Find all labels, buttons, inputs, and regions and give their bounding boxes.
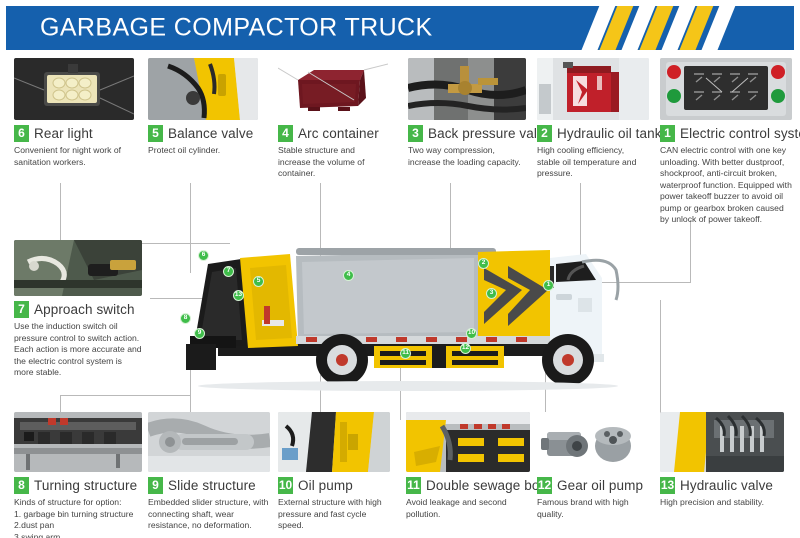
connector-line-1 [690,220,691,282]
badge-number: 13 [660,477,675,494]
connector-line-8b [60,395,190,396]
card-title: Arc container [298,126,379,141]
badge-number: 8 [14,477,29,494]
truck-marker-8[interactable]: 8 [180,313,191,324]
rear-light-photo [14,58,134,120]
card-desc: Stable structure and increase the volume… [278,145,388,180]
card-head: 5 Balance valve [148,125,258,142]
header-banner: GARBAGE COMPACTOR TRUCK [6,6,794,50]
card-head: 9 Slide structure [148,477,270,494]
card-title: Double sewage box [426,478,546,493]
card-title: Hydraulic oil tank [557,126,662,141]
card-title: Slide structure [168,478,256,493]
card-head: 8 Turning structure [14,477,142,494]
feature-card-hydraulic-valve[interactable]: 13 Hydraulic valve High precision and st… [660,412,784,509]
card-desc: High cooling efficiency, stable oil temp… [537,145,649,180]
card-head: 6 Rear light [14,125,134,142]
truck-illustration: 6 7 5 13 8 9 4 11 12 10 3 2 1 [178,228,648,393]
card-title: Gear oil pump [557,478,643,493]
turning-structure-photo [14,412,142,472]
truck-marker-2[interactable]: 2 [478,258,489,269]
card-desc: Protect oil cylinder. [148,145,258,157]
feature-card-double-sewage-box[interactable]: 11 Double sewage box Avoid leakage and s… [406,412,530,520]
badge-number: 10 [278,477,293,494]
truck-marker-5[interactable]: 5 [253,276,264,287]
truck-marker-11[interactable]: 11 [400,348,411,359]
truck-marker-7[interactable]: 7 [223,266,234,277]
card-title: Oil pump [298,478,353,493]
feature-card-balance-valve[interactable]: 5 Balance valve Protect oil cylinder. [148,58,258,157]
card-head: 2 Hydraulic oil tank [537,125,649,142]
oil-pump-photo [278,412,390,472]
card-head: 13 Hydraulic valve [660,477,784,494]
feature-card-gear-oil-pump[interactable]: 12 Gear oil pump Famous brand with high … [537,412,649,520]
header-stripes [590,6,750,50]
double-sewage-box-photo [406,412,530,472]
badge-number: 7 [14,301,29,318]
slide-structure-photo [148,412,270,472]
feature-card-turning-structure[interactable]: 8 Turning structure Kinds of structure f… [14,412,142,538]
card-title: Electric control system [680,126,800,141]
card-desc: Use the induction switch oil pressure co… [14,321,142,379]
card-head: 4 Arc container [278,125,388,142]
gear-oil-pump-photo [537,412,649,472]
balance-valve-photo [148,58,258,120]
truck-marker-10[interactable]: 10 [466,328,477,339]
card-desc: Kinds of structure for option: 1. garbag… [14,497,142,538]
infographic-page: GARBAGE COMPACTOR TRUCK [0,0,800,538]
feature-card-oil-pump[interactable]: 10 Oil pump External structure with high… [278,412,390,532]
badge-number: 9 [148,477,163,494]
truck-marker-9[interactable]: 9 [194,328,205,339]
feature-card-approach-switch[interactable]: 7 Approach switch Use the induction swit… [14,240,142,379]
page-title: GARBAGE COMPACTOR TRUCK [40,14,433,43]
feature-card-rear-light[interactable]: 6 Rear light Convenient for night work o… [14,58,134,168]
approach-switch-photo [14,240,142,296]
card-desc: Embedded slider structure, with connecti… [148,497,270,532]
card-title: Approach switch [34,302,135,317]
card-head: 1 Electric control system [660,125,792,142]
badge-number: 1 [660,125,675,142]
electric-control-system-photo [660,58,792,120]
truck-marker-6[interactable]: 6 [198,250,209,261]
card-title: Balance valve [168,126,253,141]
truck-marker-3[interactable]: 3 [486,288,497,299]
feature-card-slide-structure[interactable]: 9 Slide structure Embedded slider struct… [148,412,270,532]
card-head: 10 Oil pump [278,477,390,494]
badge-number: 5 [148,125,163,142]
badge-number: 2 [537,125,552,142]
hydraulic-oil-tank-photo [537,58,649,120]
truck-marker-1[interactable]: 1 [543,280,554,291]
card-desc: External structure with high pressure an… [278,497,390,532]
card-title: Turning structure [34,478,137,493]
badge-number: 12 [537,477,552,494]
arc-container-photo [278,58,388,120]
card-head: 11 Double sewage box [406,477,530,494]
connector-line-13 [660,300,661,420]
card-desc: Famous brand with high quality. [537,497,649,520]
card-head: 3 Back pressure valve [408,125,526,142]
feature-card-back-pressure-valve[interactable]: 3 Back pressure valve Two way compressio… [408,58,526,168]
truck-marker-13[interactable]: 13 [233,290,244,301]
card-title: Hydraulic valve [680,478,773,493]
card-desc: High precision and stability. [660,497,784,509]
truck-svg [178,228,648,393]
card-head: 7 Approach switch [14,301,142,318]
badge-number: 3 [408,125,423,142]
connector-line-6 [60,183,61,243]
card-title: Back pressure valve [428,126,551,141]
truck-marker-12[interactable]: 12 [460,343,471,354]
feature-card-hydraulic-oil-tank[interactable]: 2 Hydraulic oil tank High cooling effici… [537,58,649,180]
card-desc: Convenient for night work of sanitation … [14,145,134,168]
card-title: Rear light [34,126,93,141]
feature-card-arc-container[interactable]: 4 Arc container Stable structure and inc… [278,58,388,180]
badge-number: 11 [406,477,421,494]
truck-marker-4[interactable]: 4 [343,270,354,281]
hydraulic-valve-photo [660,412,784,472]
card-desc: Avoid leakage and second pollution. [406,497,530,520]
badge-number: 6 [14,125,29,142]
badge-number: 4 [278,125,293,142]
feature-card-electric-control-system[interactable]: 1 Electric control system CAN electric c… [660,58,792,226]
card-head: 12 Gear oil pump [537,477,649,494]
card-desc: Two way compression, increase the loadin… [408,145,526,168]
back-pressure-valve-photo [408,58,526,120]
card-desc: CAN electric control with one key unload… [660,145,792,226]
